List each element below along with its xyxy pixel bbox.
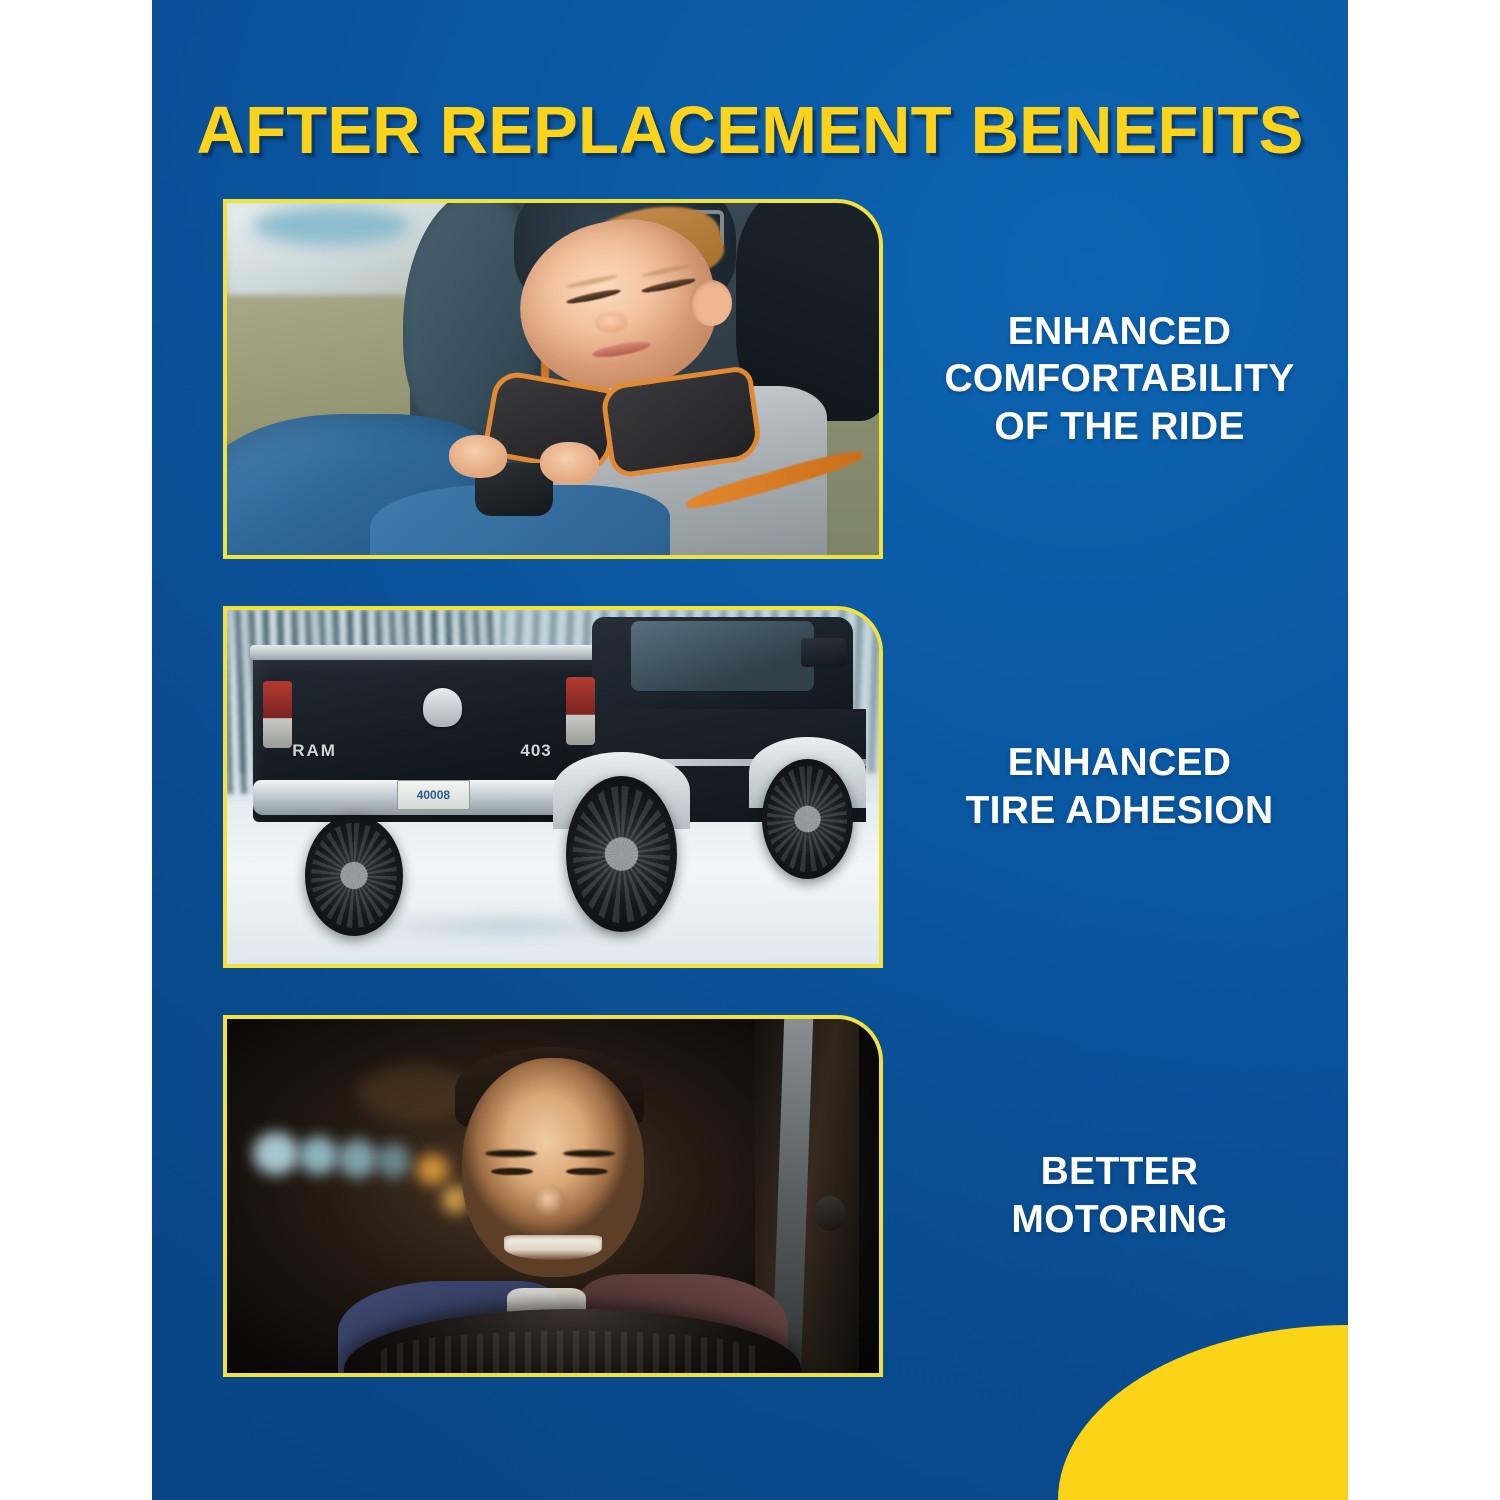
driver-eyebrow — [563, 1150, 615, 1157]
truck-model-label: 403 — [520, 741, 551, 761]
sleeping-baby-in-car-seat-photo — [223, 199, 883, 559]
bokeh-light — [299, 1136, 338, 1175]
blue-background-panel: AFTER REPLACEMENT BENEFITS — [152, 0, 1348, 1500]
caption-line: COMFORTABILITY — [917, 355, 1322, 403]
truck-tire — [566, 776, 677, 932]
benefit-row: ENHANCED COMFORTABILITY OF THE RIDE — [152, 199, 1348, 559]
benefit-row: RAM 403 40008 ENHANCED TIRE ADHESION — [152, 606, 1348, 968]
photo-artwork — [227, 1019, 879, 1373]
caption-line: ENHANCED — [917, 739, 1322, 787]
license-plate: 40008 — [397, 780, 471, 810]
tail-light-left — [263, 681, 292, 748]
poster-canvas: AFTER REPLACEMENT BENEFITS — [0, 0, 1500, 1500]
caption-line: TIRE ADHESION — [917, 787, 1322, 835]
smiling-driver-at-night-photo — [223, 1015, 883, 1377]
pickup-truck-in-snow-photo: RAM 403 40008 — [223, 606, 883, 968]
side-mirror — [801, 638, 847, 666]
caption-line: OF THE RIDE — [917, 403, 1322, 451]
baby-hand — [540, 442, 599, 484]
license-plate-text: 40008 — [417, 788, 450, 802]
caption-line: BETTER — [917, 1148, 1322, 1196]
truck-tire — [305, 815, 403, 935]
bokeh-light — [377, 1143, 410, 1178]
benefit-caption: ENHANCED COMFORTABILITY OF THE RIDE — [883, 308, 1348, 451]
sky-blob — [253, 207, 409, 246]
caption-line: ENHANCED — [917, 308, 1322, 356]
page-title: AFTER REPLACEMENT BENEFITS — [152, 97, 1348, 164]
tail-light-right — [566, 677, 595, 744]
bokeh-light — [338, 1139, 377, 1178]
driver-nose — [533, 1185, 566, 1220]
baby-hand — [449, 435, 508, 477]
ram-emblem-icon — [423, 688, 462, 727]
photo-artwork — [227, 203, 879, 555]
bokeh-light — [416, 1154, 449, 1186]
truck-brand-label: RAM — [292, 741, 337, 761]
driver-smile — [504, 1235, 602, 1260]
benefit-row: BETTER MOTORING — [152, 1015, 1348, 1377]
benefit-caption: BETTER MOTORING — [883, 1148, 1348, 1243]
bokeh-light — [253, 1132, 299, 1174]
benefit-caption: ENHANCED TIRE ADHESION — [883, 739, 1348, 834]
photo-artwork: RAM 403 40008 — [227, 610, 879, 964]
driver-eyebrow — [485, 1150, 537, 1157]
truck-window — [631, 621, 814, 692]
truck-tire — [762, 759, 853, 879]
caption-line: MOTORING — [917, 1196, 1322, 1244]
